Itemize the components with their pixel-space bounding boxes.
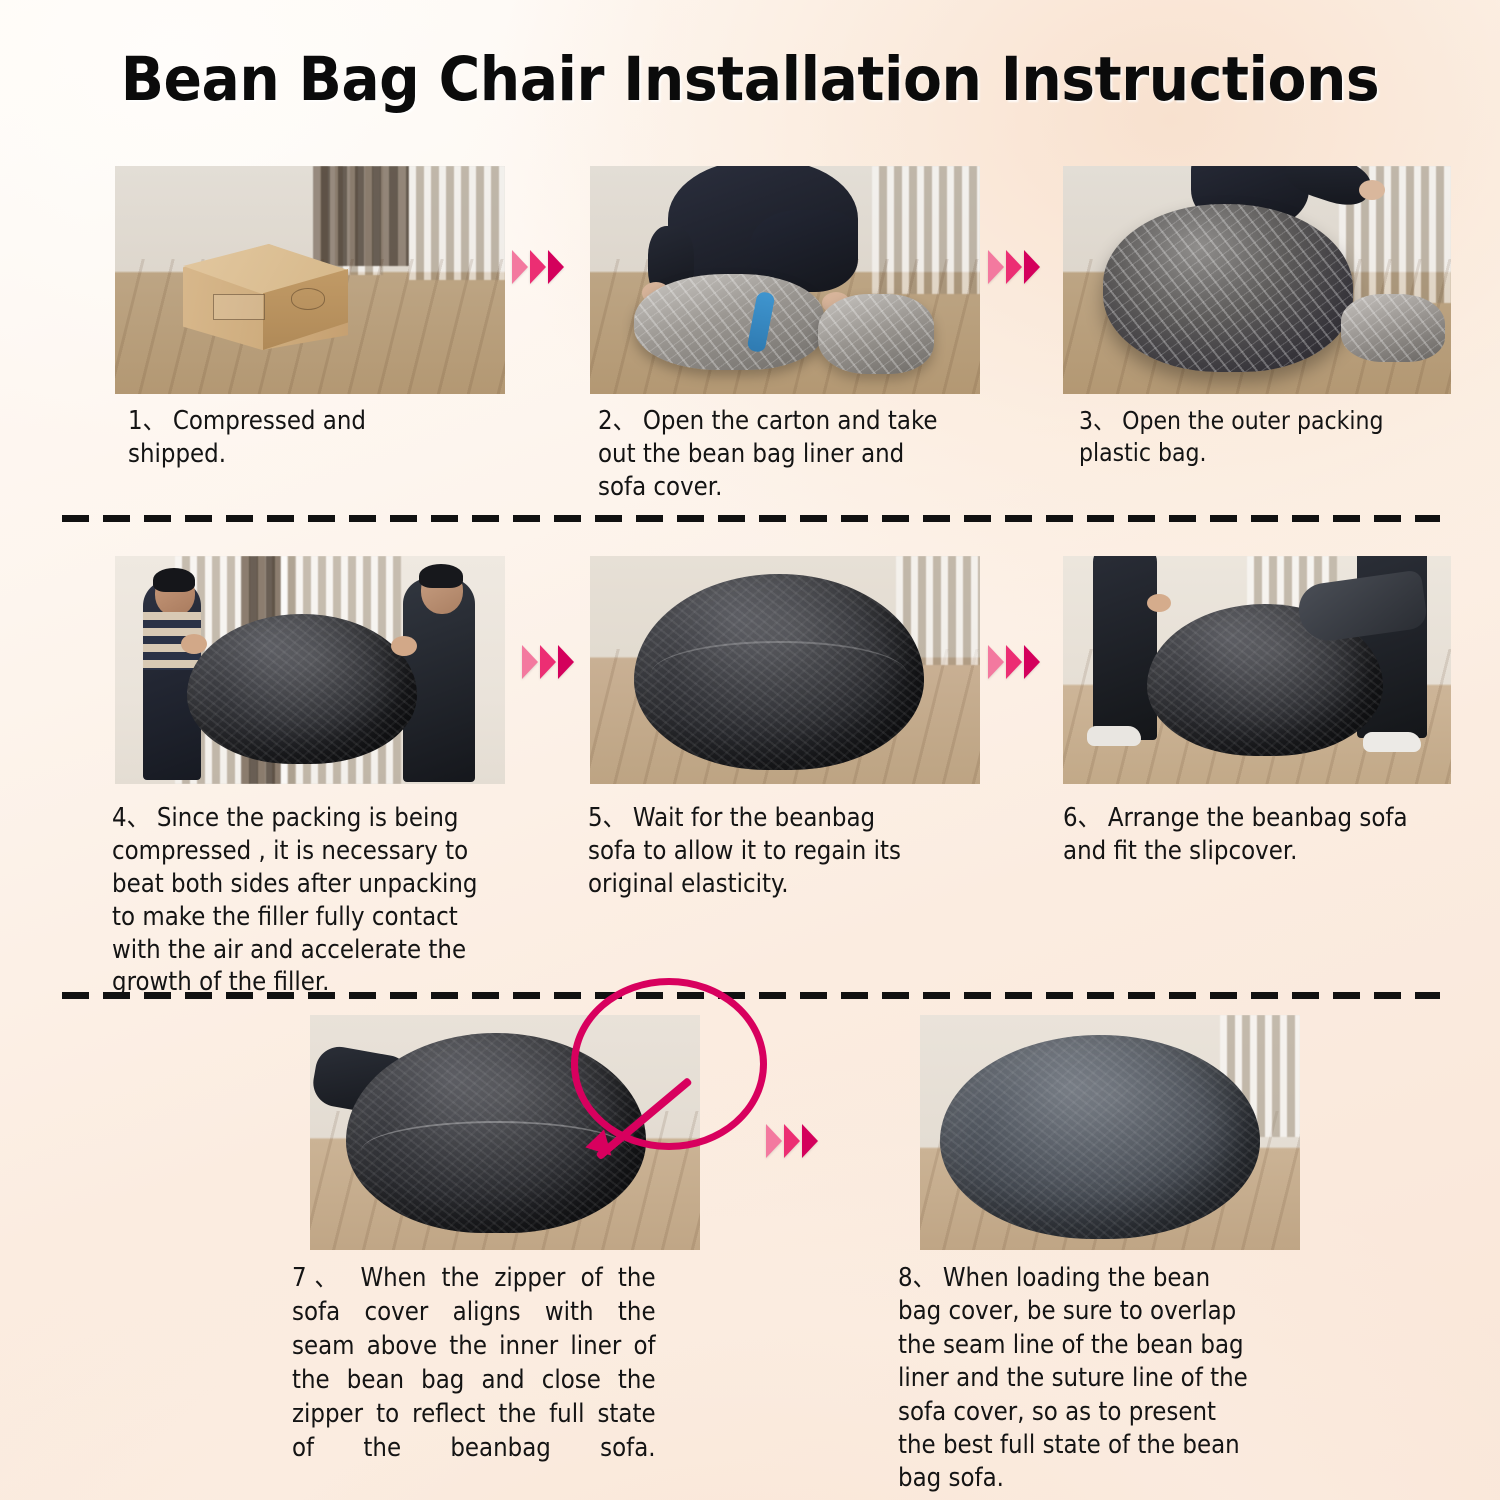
chevron-right-icon	[1024, 645, 1040, 679]
step-number-6: 6、	[1063, 803, 1101, 833]
carton-brand-mark	[291, 288, 325, 310]
step-image-4	[115, 556, 505, 784]
step-text-2: Open the carton and take out the bean ba…	[598, 406, 938, 502]
step-number-4: 4、	[112, 803, 150, 833]
step-text-5: Wait for the beanbag sofa to allow it to…	[588, 803, 901, 899]
flow-arrow-1	[512, 250, 564, 284]
step-number-5: 5、	[588, 803, 626, 833]
step-number-3: 3、	[1079, 406, 1115, 435]
shoe-icon	[1363, 732, 1421, 752]
step-image-1	[115, 166, 505, 394]
person-hand	[181, 634, 207, 654]
plastic-sheen	[634, 274, 824, 370]
step-number-8: 8、	[898, 1263, 936, 1293]
chevron-right-icon	[988, 645, 1004, 679]
flow-arrow-2	[988, 250, 1040, 284]
step-text-6: Arrange the beanbag sofa and fit the sli…	[1063, 803, 1408, 866]
highlight-circle-annotation	[571, 978, 767, 1150]
step-caption-4: 4、 Since the packing is being compressed…	[112, 802, 481, 999]
flow-arrow-4	[988, 645, 1040, 679]
person-silhouette-left	[1093, 556, 1157, 740]
curtain-icon	[313, 166, 409, 266]
step-image-2	[590, 166, 980, 394]
vacuum-bag-small	[818, 294, 934, 374]
fabric-texture	[187, 614, 417, 764]
infographic-page: Bean Bag Chair Installation Instructions	[0, 0, 1500, 1500]
section-divider-1	[62, 515, 1440, 522]
step-caption-7: 7、 When the zipper of the sofa cover ali…	[292, 1262, 656, 1499]
step-number-2: 2、	[598, 406, 636, 436]
seam-line	[651, 641, 906, 708]
step-text-7: When the zipper of the sofa cover aligns…	[292, 1263, 656, 1463]
person-hair	[419, 564, 463, 588]
vacuum-bag-small	[1341, 294, 1445, 362]
step-image-5	[590, 556, 980, 784]
chevron-right-icon	[1006, 250, 1022, 284]
person-hand	[1147, 594, 1171, 612]
person-hand	[1359, 180, 1385, 200]
chevron-right-icon	[784, 1124, 800, 1158]
chevron-right-icon	[766, 1124, 782, 1158]
step-caption-5: 5、 Wait for the beanbag sofa to allow it…	[588, 802, 930, 901]
chevron-right-icon	[530, 250, 546, 284]
step-caption-8: 8、 When loading the bean bag cover, be s…	[898, 1262, 1258, 1496]
beanbag-liner	[634, 574, 924, 770]
carton-shipping-label	[213, 294, 265, 320]
step-image-6	[1063, 556, 1451, 784]
step-caption-1: 1、 Compressed and shipped.	[128, 405, 470, 471]
chevron-right-icon	[558, 645, 574, 679]
person-hand	[391, 636, 417, 656]
step-image-3	[1063, 166, 1451, 394]
step-text-4: Since the packing is being compressed , …	[112, 803, 477, 997]
step-number-7: 7、	[292, 1263, 345, 1293]
plastic-wrapped-beanbag	[1103, 204, 1353, 372]
step-image-8	[920, 1015, 1300, 1250]
chevron-right-icon	[540, 645, 556, 679]
step-text-3: Open the outer packing plastic bag.	[1079, 406, 1383, 467]
chevron-right-icon	[802, 1124, 818, 1158]
plastic-sheen	[1341, 294, 1445, 362]
section-divider-2	[62, 992, 1440, 999]
step-caption-3: 3、 Open the outer packing plastic bag.	[1079, 405, 1403, 468]
step-number-1: 1、	[128, 406, 166, 436]
chevron-right-icon	[1024, 250, 1040, 284]
flow-arrow-3	[522, 645, 574, 679]
vacuum-bag-large	[634, 274, 824, 370]
beanbag-liner-held	[187, 614, 417, 764]
chevron-right-icon	[988, 250, 1004, 284]
chevron-right-icon	[512, 250, 528, 284]
plastic-sheen	[818, 294, 934, 374]
step-text-8: When loading the bean bag cover, be sure…	[898, 1263, 1248, 1493]
shoe-icon	[1087, 726, 1141, 746]
step-caption-2: 2、 Open the carton and take out the bean…	[598, 405, 945, 504]
step-caption-6: 6、 Arrange the beanbag sofa and fit the …	[1063, 802, 1414, 868]
page-title: Bean Bag Chair Installation Instructions	[53, 44, 1448, 115]
person-hair	[153, 568, 195, 592]
chevron-right-icon	[522, 645, 538, 679]
chevron-right-icon	[1006, 645, 1022, 679]
chevron-right-icon	[548, 250, 564, 284]
fur-texture	[940, 1035, 1260, 1239]
plastic-sheen	[1103, 204, 1353, 372]
finished-beanbag-sofa	[940, 1035, 1260, 1239]
flow-arrow-5	[766, 1124, 818, 1158]
